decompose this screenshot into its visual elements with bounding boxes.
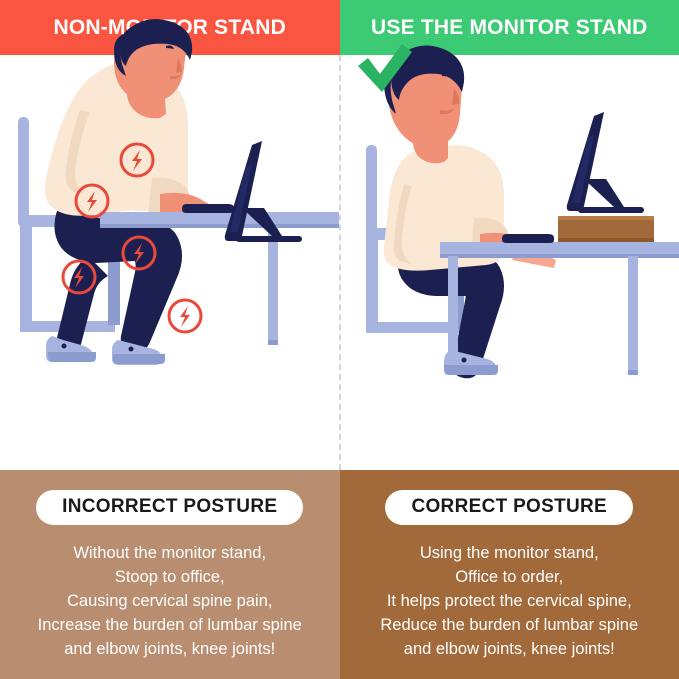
caption-line: Increase the burden of lumbar spine [38,613,302,637]
caption-cell-correct: CORRECT POSTURE Using the monitor stand,… [340,470,679,679]
caption-line: Reduce the burden of lumbar spine [380,613,638,637]
keyboard-left [182,204,234,213]
caption-line: and elbow joints, knee joints! [38,637,302,661]
caption-line: It helps protect the cervical spine, [380,589,638,613]
monitor-right [567,112,644,213]
badge-incorrect-posture: INCORRECT POSTURE [36,490,303,525]
caption-text-correct: Using the monitor stand, Office to order… [372,541,646,661]
caption-line: and elbow joints, knee joints! [380,637,638,661]
caption-line: Stoop to office, [38,565,302,589]
posture-comparison-infographic: NON-MONITOR STAND USE THE MONITOR STAND [0,0,679,679]
caption-cell-incorrect: INCORRECT POSTURE Without the monitor st… [0,470,340,679]
knee-pain-marker [169,300,201,332]
caption-line: Causing cervical spine pain, [38,589,302,613]
badge-correct-posture: CORRECT POSTURE [385,490,633,525]
caption-line: Office to order, [380,565,638,589]
caption-line: Without the monitor stand, [38,541,302,565]
monitor-stand-riser [558,216,654,242]
caption-text-incorrect: Without the monitor stand, Stoop to offi… [30,541,310,661]
caption-line: Using the monitor stand, [380,541,638,565]
panel-divider [339,55,341,470]
caption-row: INCORRECT POSTURE Without the monitor st… [0,470,679,679]
illustration-incorrect-posture [0,0,339,415]
keyboard-right [502,234,554,243]
illustration-correct-posture [340,0,679,415]
